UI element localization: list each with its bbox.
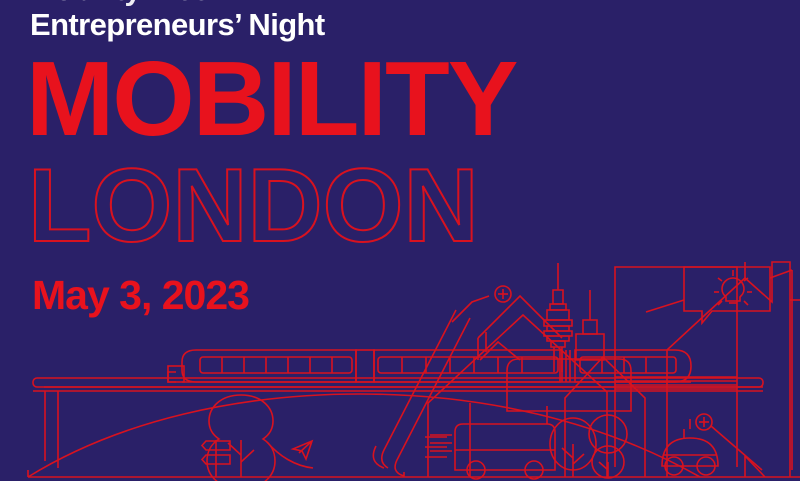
banner-copy: Mobility Week Entrepreneurs’ Night MOBIL…	[0, 0, 800, 481]
event-kicker: Entrepreneurs’ Night	[30, 8, 325, 42]
event-banner: Mobility Week Entrepreneurs’ Night MOBIL…	[0, 0, 800, 481]
headline-primary: MOBILITY	[26, 44, 516, 154]
headline-secondary: LONDON	[28, 152, 479, 260]
event-date: May 3, 2023	[32, 272, 249, 318]
